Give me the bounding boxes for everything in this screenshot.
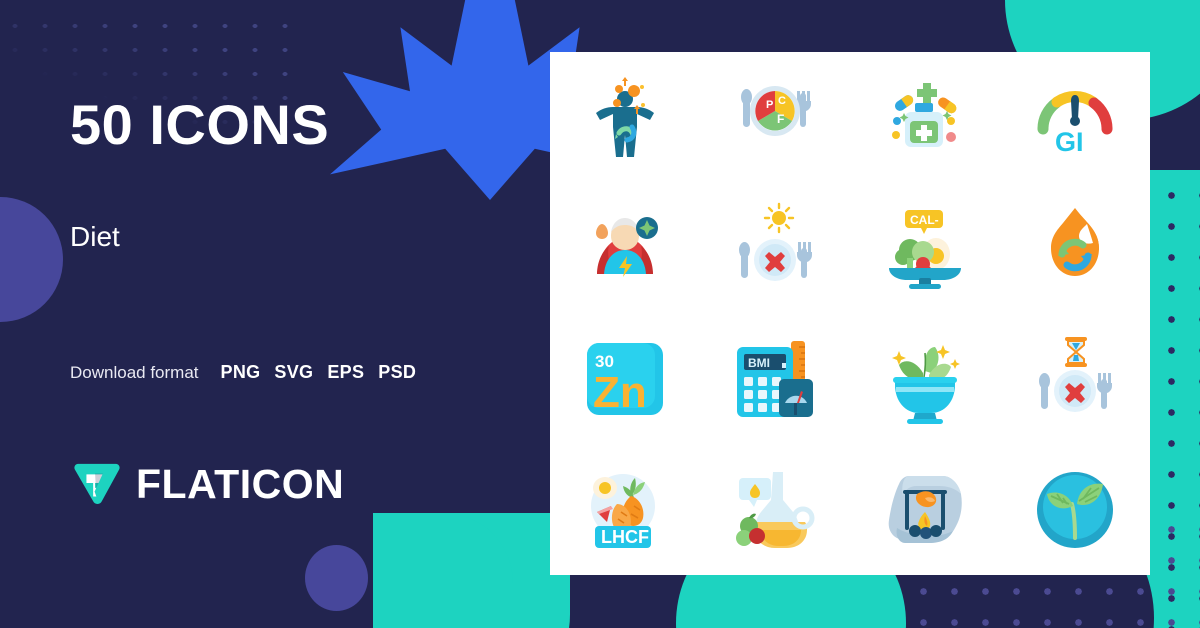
format-png[interactable]: PNG	[221, 362, 261, 383]
flaticon-logo-text: FLATICON	[136, 464, 344, 505]
icon-cell-superfood-hero[interactable]	[550, 183, 700, 314]
format-svg[interactable]: SVG	[274, 362, 313, 383]
icon-cell-low-calorie[interactable]: CAL-	[850, 183, 1000, 314]
purple-circle-left	[0, 197, 63, 322]
page-subtitle: Diet	[70, 223, 510, 251]
icon-cell-bmi-calculator[interactable]: BMI	[700, 314, 850, 445]
purple-circle-bottom	[305, 545, 368, 611]
svg-text:P: P	[766, 99, 773, 111]
svg-text:BMI: BMI	[748, 356, 770, 370]
icon-cell-olive-oil[interactable]	[700, 444, 850, 575]
flaticon-logo[interactable]: FLATICON	[72, 460, 344, 508]
format-eps[interactable]: EPS	[327, 362, 364, 383]
icon-cell-fat-burn-flame[interactable]	[1000, 183, 1150, 314]
icon-cell-intermittent-fasting[interactable]	[700, 183, 850, 314]
format-psd[interactable]: PSD	[378, 362, 416, 383]
poster-stage: 50 ICONS Diet Download format PNG SVG EP…	[0, 0, 1200, 628]
icon-cell-glycemic-index[interactable]: GI	[1000, 52, 1150, 183]
download-format-list: PNG SVG EPS PSD	[221, 362, 417, 383]
icon-cell-macros-plate[interactable]: P C F	[700, 52, 850, 183]
svg-text:GI: GI	[1055, 127, 1084, 157]
flaticon-logo-icon	[72, 460, 122, 508]
icon-cell-salad-bowl[interactable]	[850, 314, 1000, 445]
icon-cell-plant-based[interactable]	[1000, 444, 1150, 575]
icon-cell-fasting-hourglass[interactable]	[1000, 314, 1150, 445]
download-format-label: Download format	[70, 363, 199, 383]
svg-text:LHCF: LHCF	[601, 527, 649, 547]
text-column: 50 ICONS Diet	[70, 96, 510, 251]
icon-grid: P C F	[550, 52, 1150, 575]
icon-cell-zinc-element[interactable]: 30 Zn	[550, 314, 700, 445]
icon-cell-lhcf-diet[interactable]: LHCF	[550, 444, 700, 575]
icon-cell-paleo-diet[interactable]	[850, 444, 1000, 575]
page-title: 50 ICONS	[70, 96, 510, 155]
icon-cell-supplements[interactable]	[850, 52, 1000, 183]
svg-text:C: C	[778, 95, 786, 107]
download-format-row: Download format PNG SVG EPS PSD	[70, 362, 416, 383]
svg-text:CAL-: CAL-	[910, 213, 939, 227]
svg-text:F: F	[777, 112, 784, 126]
icon-preview-card: P C F	[550, 52, 1150, 575]
icon-cell-metabolism-body[interactable]	[550, 52, 700, 183]
svg-text:Zn: Zn	[593, 368, 647, 417]
